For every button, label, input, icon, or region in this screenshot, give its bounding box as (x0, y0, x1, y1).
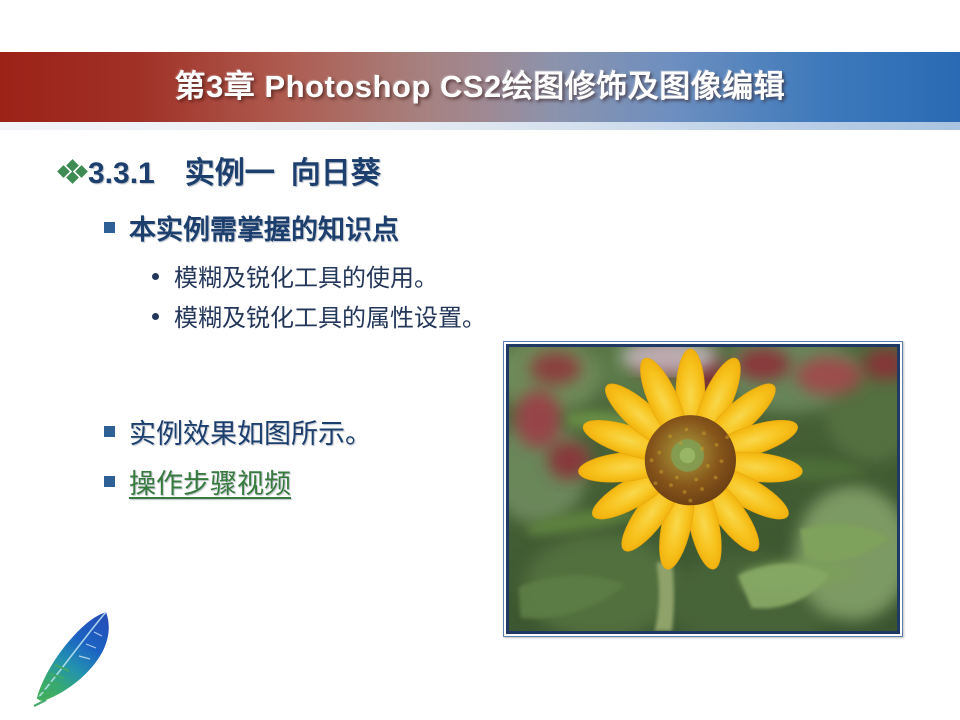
list-item-example-result: 实例效果如图所示。 (104, 412, 372, 451)
list-item-blur-sharpen-usage: 模糊及锐化工具的使用。 (152, 258, 438, 293)
blue-square-bullet-icon (104, 222, 115, 233)
sunflower-photo (509, 347, 897, 631)
slide-canvas: 第3章 Photoshop CS2绘图修饰及图像编辑 3.3.1 实例一 向日葵… (0, 0, 960, 720)
feather-logo (24, 602, 134, 712)
round-dot-bullet-icon (152, 273, 159, 280)
green-diamond-cluster-icon (58, 161, 84, 187)
feather-logo-icon (24, 602, 134, 712)
list-item-label: 实例效果如图所示。 (129, 412, 372, 451)
picture-frame[interactable] (503, 341, 903, 637)
blue-square-bullet-icon (104, 476, 115, 487)
heading-3-3-1: 3.3.1 实例一 向日葵 (58, 148, 381, 192)
heading-label: 实例一 (185, 148, 275, 192)
picture-inner-border (506, 344, 900, 634)
heading-number: 3.3.1 (88, 157, 155, 191)
list-item-label: 本实例需掌握的知识点 (129, 208, 399, 247)
list-item-blur-sharpen-properties: 模糊及锐化工具的属性设置。 (152, 298, 486, 333)
list-item-label: 模糊及锐化工具的使用。 (174, 258, 438, 293)
page-title: 第3章 Photoshop CS2绘图修饰及图像编辑 (0, 52, 960, 122)
title-underbar-highlight (0, 122, 960, 130)
blue-square-bullet-icon (104, 426, 115, 437)
list-item-knowledge-points: 本实例需掌握的知识点 (104, 208, 399, 247)
heading-label-2: 向日葵 (291, 148, 381, 192)
list-item-label: 模糊及锐化工具的属性设置。 (174, 298, 486, 333)
list-item-steps-video[interactable]: 操作步骤视频 (104, 462, 291, 501)
steps-video-link[interactable]: 操作步骤视频 (129, 462, 291, 501)
round-dot-bullet-icon (152, 313, 159, 320)
